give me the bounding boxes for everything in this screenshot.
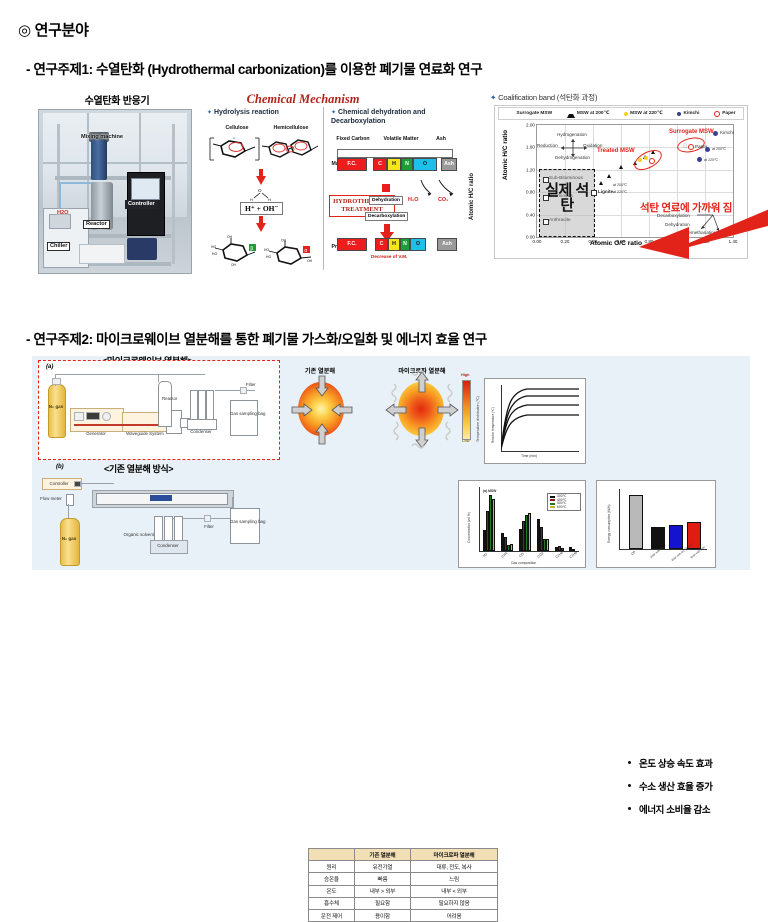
- mw-gas-bag: [230, 400, 258, 436]
- water-molecule: O H H: [249, 187, 275, 201]
- benefit-bullets: 온도 상승 속도 효과 수소 생산 효율 증가 에너지 소비율 감소: [628, 756, 712, 825]
- seg-fc-prod: F.C.: [337, 241, 367, 247]
- cell-microwave-principle: 대류, 전도, 복사: [411, 861, 498, 873]
- svg-text:O: O: [233, 136, 236, 140]
- seg-n-prod: N: [400, 241, 410, 247]
- seg-c-raw: C: [373, 161, 387, 167]
- photo-label-chiller: Chiller: [47, 242, 70, 251]
- svg-text:HO: HO: [266, 255, 271, 259]
- row-label-control: 운전 제어: [309, 909, 355, 921]
- seg-h-prod: H: [388, 241, 400, 247]
- seg-n-raw: N: [401, 161, 413, 167]
- coal-anthracite: Anthracite: [549, 218, 571, 223]
- temp-chart-ylabel: Reactor temperature (℃): [491, 407, 495, 443]
- colorbar-axis-label: Temperature distribution (℃): [476, 396, 480, 442]
- photo-label-h2o: H2O: [57, 210, 69, 217]
- topic2-heading: - 연구주제2: 마이크로웨이브 열분해를 통한 폐기물 가스화/오일화 및 에…: [26, 328, 487, 348]
- gas-cat-ch4: CH4: [501, 551, 509, 558]
- coalification-ylabel: Atomic H/C ratio: [502, 130, 509, 180]
- ytick-4: 1.60: [526, 145, 535, 150]
- seg-ash-prod: Ash: [437, 241, 457, 247]
- svg-text:H: H: [250, 197, 253, 201]
- cell-microwave-temperature: 내부 < 외부: [411, 885, 498, 897]
- figure-block-1: 수열탄화 반응기 Mixing machine Controller React…: [38, 92, 750, 277]
- bullet-item: 온도 상승 속도 효과: [628, 756, 712, 770]
- temperature-colorbar: [462, 380, 471, 440]
- colorbar-low-label: Low: [462, 439, 470, 443]
- bullet-item: 에너지 소비율 감소: [628, 802, 712, 816]
- seg-h-raw: H: [387, 161, 401, 167]
- svg-text:α: α: [304, 248, 307, 254]
- mechanism-side-axis: Atomic H/C ratio: [469, 173, 475, 220]
- cp-gas-bag: [230, 508, 260, 544]
- xtick-2: 0.40: [589, 239, 598, 244]
- fixed-carbon-header: Fixed Carbon: [336, 136, 370, 142]
- ytick-3: 1.20: [526, 167, 535, 172]
- kimchi-at-220: at 220℃: [704, 158, 718, 162]
- cp-controller-label: Controller: [42, 481, 76, 486]
- decrease-vm-note: Decrease of V.M.: [371, 254, 407, 259]
- chemical-mechanism-figure: Chemical Mechanism ✦ Hydrolysis reaction…: [203, 92, 475, 272]
- ann-surrogate-msw: Surrogate MSW: [669, 129, 714, 135]
- microwave-sublabel: (a): [46, 364, 53, 370]
- xtick-1: 0.20: [561, 239, 570, 244]
- gas-chart-ylabel: Concentration (vol %): [467, 512, 471, 543]
- cellulose-label: Cellulose: [217, 125, 257, 131]
- legend-paper: Paper: [714, 111, 735, 117]
- seg-fc-raw: F.C.: [337, 161, 367, 167]
- seg-ash-raw: Ash: [441, 161, 457, 167]
- cell-microwave-absorber: 필요하지 않음: [411, 897, 498, 909]
- svg-text:OH: OH: [281, 238, 287, 242]
- section-title: ◎ 연구분야: [18, 19, 89, 40]
- ytick-2: 0.80: [526, 190, 535, 195]
- temp-chart-xlabel: Time (min): [521, 454, 537, 458]
- svg-text:OH: OH: [307, 259, 313, 263]
- legend-surrogate-msw: Surrogate MSW: [506, 110, 552, 118]
- cp-gasbag-label: Gas sampling bag: [230, 519, 258, 524]
- cp-n2-label: N₂ gas: [60, 536, 78, 541]
- energy-chart-ylabel: Energy consumption (kWh): [607, 505, 611, 543]
- legend-kimchi: Kimchi: [677, 111, 699, 116]
- temperature-curves: [501, 385, 579, 451]
- figure-block-2: <마이크로웨이브 열분해> (a) N₂ gas Generator Waveg…: [32, 356, 750, 570]
- mw-gasbag-label: Gas sampling bag: [230, 411, 256, 416]
- svg-text:β: β: [250, 246, 253, 252]
- cp-n2-cylinder: [60, 518, 80, 566]
- colorbar-high-label: High: [461, 373, 469, 377]
- coalification-legend: Surrogate MSW MSW at 200℃ MSW at 220℃ Ki…: [498, 107, 744, 120]
- coal-sub-bituminous: Sub-Bituminous: [549, 176, 583, 181]
- cell-conventional-temperature: 내부 > 외부: [354, 885, 410, 897]
- seg-o-raw: O: [413, 161, 437, 167]
- th-microwave: 마이크로파 열분해: [411, 849, 498, 861]
- temperature-time-chart: Reactor temperature (℃) Time (min): [484, 378, 586, 464]
- svg-text:HO: HO: [212, 252, 217, 256]
- gas-cat-h2: H2: [482, 552, 488, 558]
- legend-msw-220: MSW at 220℃: [624, 111, 662, 116]
- table-row: 흡수체 필요함 필요하지 않음: [309, 897, 498, 909]
- dehydration-heading: ✦ Chemical dehydration and Decarboxylati…: [331, 109, 471, 126]
- msw-at-220-label: at 220℃: [613, 190, 627, 194]
- mechanism-title: Chemical Mechanism: [203, 92, 403, 107]
- mw-condenser-label: Condenser: [184, 429, 218, 434]
- gas-cat-co: CO: [518, 552, 524, 558]
- dehydration-step: Dehydration: [369, 196, 403, 205]
- seg-o-prod: O: [410, 241, 426, 247]
- mw-n2-label: N₂ gas: [48, 404, 64, 409]
- msw-at-200-label: at 200℃: [613, 183, 627, 187]
- seg-c-prod: C: [375, 241, 388, 247]
- topic1-heading: - 연구주제1: 수열탄화 (Hydrothermal carbonizatio…: [26, 58, 482, 78]
- ann-kimchi: Kimchi: [720, 130, 734, 135]
- xtick-3: 0.60: [617, 239, 626, 244]
- cp-condenser-label: Condenser: [150, 543, 186, 548]
- ytick-1: 0.40: [526, 212, 535, 217]
- coalification-chart: ✦ Coalification band (석탄화 과정) Surrogate …: [490, 92, 750, 274]
- glucose-structure-2: OH HO HO OH α: [263, 238, 321, 270]
- gas-legend-600: 600℃: [557, 505, 566, 509]
- gas-composition-chart: (a) MSW: [458, 480, 586, 568]
- out-h2o: H₂O: [408, 197, 418, 203]
- decarboxylation-step: Decarboxylation: [365, 212, 408, 221]
- svg-text:OH: OH: [231, 263, 236, 267]
- bullet-item: 수소 생산 효율 증가: [628, 779, 712, 793]
- conventional-heat-arrows: [290, 374, 354, 446]
- photo-label-controller: Controller: [125, 200, 158, 209]
- table-row: 온도 내부 > 외부 내부 < 외부: [309, 885, 498, 897]
- cell-conventional-principle: 유전가열: [354, 861, 410, 873]
- ions-box: H⁺ + OH⁻: [240, 202, 283, 215]
- row-label-principle: 원리: [309, 861, 355, 873]
- coalification-plot-area: 0.00 0.40 0.80 1.20 1.60 2.00 0.00 0.20 …: [536, 124, 734, 238]
- cellulose-structure: O: [207, 132, 263, 164]
- out-co2: CO₂: [438, 197, 448, 203]
- hydrolysis-heading: ✦ Hydrolysis reaction: [207, 109, 279, 118]
- photo-label-mixing-machine: Mixing machine: [79, 134, 125, 141]
- svg-text:H: H: [268, 197, 271, 201]
- xtick-0: 0.00: [533, 239, 542, 244]
- mw-generator-label: Generator: [70, 431, 122, 436]
- pyrolysis-comparison-table: 기존 열분해 마이크로파 열분해 원리 유전가열 대류, 전도, 복사 승온율 …: [308, 848, 498, 922]
- coalification-title: ✦ Coalification band (석탄화 과정): [490, 92, 597, 103]
- volatile-matter-header: Volatile Matter: [378, 136, 424, 142]
- row-label-heatingrate: 승온율: [309, 873, 355, 885]
- cp-solvent-label: Organic solvent: [114, 532, 154, 537]
- gas-cat-c2h6: C2H6: [569, 551, 578, 560]
- reactor-photo-caption: 수열탄화 반응기: [52, 92, 182, 107]
- kimchi-at-200: at 200℃: [712, 147, 726, 151]
- svg-text:HO: HO: [211, 245, 216, 249]
- photo-label-reactor: Reactor: [83, 220, 110, 229]
- table-row: 승온율 빠름 느림: [309, 873, 498, 885]
- table-header-row: 기존 열분해 마이크로파 열분해: [309, 849, 498, 861]
- conventional-panel-caption: <기존 열분해 방식>: [104, 462, 173, 475]
- gas-chart-xlabel: Gas composition: [511, 561, 536, 565]
- cp-filter-label: Filter: [198, 524, 220, 529]
- energy-cat-cp: CP: [630, 550, 636, 556]
- row-label-temperature: 온도: [309, 885, 355, 897]
- real-coal-overlay: 실제 석탄: [541, 183, 593, 213]
- mw-filter-label: Filter: [246, 382, 268, 387]
- cell-conventional-control: 용이함: [354, 909, 410, 921]
- slide-root: ◎ 연구분야 - 연구주제1: 수열탄화 (Hydrothermal carbo…: [0, 0, 768, 576]
- row-label-absorber: 흡수체: [309, 897, 355, 909]
- gas-release-arrows: [417, 178, 461, 198]
- coal-arrow-text: 석탄 연료에 가까워 짐: [640, 200, 732, 215]
- ann-lignite: Lignite: [598, 189, 613, 194]
- cell-microwave-heatingrate: 느림: [411, 873, 498, 885]
- th-conventional: 기존 열분해: [354, 849, 410, 861]
- legend-msw-200: MSW at 200℃: [567, 110, 609, 118]
- ash-header: Ash: [429, 136, 453, 142]
- cell-conventional-absorber: 필요함: [354, 897, 410, 909]
- glucose-structure-1: OH HO HO OH β: [211, 234, 265, 268]
- conventional-sublabel: (b): [56, 464, 64, 470]
- gas-cat-c2h4: C2H4: [555, 551, 564, 560]
- hemicellulose-structure: [259, 132, 321, 164]
- ytick-5: 2.00: [526, 123, 535, 128]
- svg-text:OH: OH: [227, 235, 233, 239]
- th-blank: [309, 849, 355, 861]
- cell-microwave-control: 어려움: [411, 909, 498, 921]
- table-row: 원리 유전가열 대류, 전도, 복사: [309, 861, 498, 873]
- hemicellulose-label: Hemicellulose: [265, 125, 317, 131]
- gas-chart-legend: 300℃ 400℃ 500℃ 600℃: [547, 493, 581, 511]
- reactor-photo: Mixing machine Controller Reactor Chille…: [38, 109, 192, 274]
- svg-text:O: O: [258, 188, 262, 193]
- cell-conventional-heatingrate: 빠름: [354, 873, 410, 885]
- svg-text:HO: HO: [264, 248, 269, 252]
- cp-flowmeter-label: Flow meter: [36, 496, 66, 501]
- gas-cat-co2: CO2: [537, 551, 545, 559]
- mw-n2-cylinder: [48, 384, 66, 438]
- table-row: 운전 제어 용이함 어려움: [309, 909, 498, 921]
- energy-consumption-chart: Energy consumption (kWh) CP MWP with SiC…: [596, 480, 716, 568]
- microwave-heat-arrows: [384, 370, 460, 450]
- ann-treated-msw: Treated MSW: [597, 148, 635, 154]
- mw-waveguide-label: Waveguide System: [120, 431, 170, 436]
- gas-chart-title: (a) MSW: [483, 489, 496, 493]
